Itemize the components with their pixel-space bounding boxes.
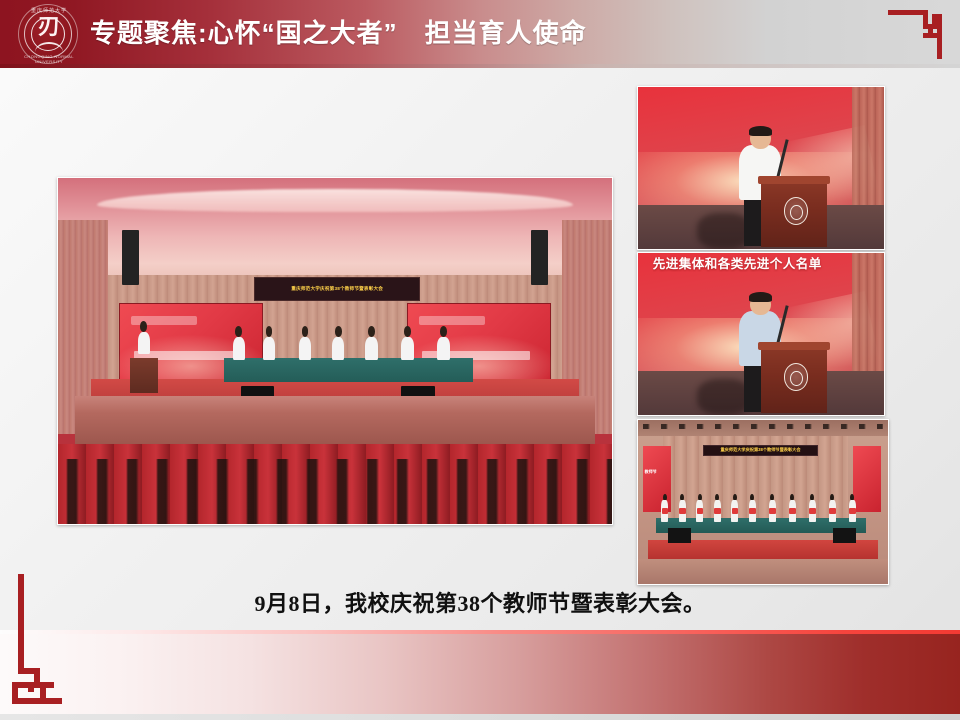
presidium-member-2 bbox=[263, 337, 275, 359]
awardee-6 bbox=[748, 494, 757, 522]
presidium-member-7 bbox=[437, 337, 449, 359]
stage-podium bbox=[130, 358, 158, 393]
lectern-1 bbox=[761, 176, 827, 247]
certificate-icon bbox=[749, 508, 755, 514]
certificate-icon bbox=[829, 508, 835, 514]
overlay-caption-text: 先进集体和各类先进个人名单 bbox=[653, 253, 879, 272]
right-photo-speaker-2[interactable]: 先进集体和各类先进个人名单 bbox=[637, 252, 885, 416]
certificate-icon bbox=[714, 508, 720, 514]
seal-center-glyph: 刃 bbox=[19, 16, 79, 38]
speaker-legs-2 bbox=[744, 363, 761, 412]
awardee-3 bbox=[696, 494, 705, 522]
award-screen-right bbox=[853, 446, 881, 512]
right-photo-speaker-1[interactable] bbox=[637, 86, 885, 250]
certificate-icon bbox=[732, 508, 738, 514]
screen-logo-right bbox=[419, 316, 484, 325]
footer-accent-line bbox=[0, 630, 960, 634]
key-pattern-corner-icon-bottom-left bbox=[12, 574, 84, 704]
stage-front-wall bbox=[75, 396, 596, 444]
certificate-icon bbox=[679, 508, 685, 514]
page-title: 专题聚焦:心怀“国之大者” 担当育人使命 bbox=[90, 13, 587, 53]
presidium-member-1 bbox=[233, 337, 245, 359]
awardee-10 bbox=[828, 494, 837, 522]
awardee-1 bbox=[661, 494, 670, 522]
stage-banner: 重庆师范大学庆祝第38个教师节暨表彰大会 bbox=[254, 277, 420, 301]
main-photo-auditorium[interactable]: 重庆师范大学庆祝第38个教师节暨表彰大会 bbox=[57, 177, 613, 525]
presidium-member-5 bbox=[365, 337, 377, 359]
person-head bbox=[404, 326, 411, 336]
awardee-4 bbox=[713, 494, 722, 522]
seal-arc-text-bottom: CHONGQING NORMAL UNIVERSITY bbox=[19, 54, 79, 64]
seal-arc-text-top: 重庆师范大学 bbox=[19, 7, 79, 14]
certificate-icon bbox=[849, 508, 855, 514]
hanging-speaker-right bbox=[531, 230, 549, 285]
university-emblem-on-lectern-1 bbox=[784, 197, 809, 225]
lectern-top-2 bbox=[758, 342, 830, 350]
key-pattern-corner-icon-top-right bbox=[888, 6, 946, 62]
slide-canvas: 重庆师范大学 刃 CHONGQING NORMAL UNIVERSITY 专题聚… bbox=[0, 0, 960, 720]
award-screen-left-text: 教师节 bbox=[645, 469, 657, 475]
lectern-2 bbox=[761, 342, 827, 413]
slide-caption: 9月8日，我校庆祝第38个教师节暨表彰大会。 bbox=[0, 586, 960, 618]
awardee-7 bbox=[768, 494, 777, 522]
university-emblem-on-lectern-2 bbox=[784, 363, 809, 391]
right-photo-award-ceremony[interactable]: 教师节 重庆师范大学庆祝第38个教师节暨表彰大会 bbox=[637, 419, 889, 585]
person-at-podium bbox=[138, 332, 150, 354]
presidium-member-6 bbox=[401, 337, 413, 359]
certificate-icon bbox=[789, 508, 795, 514]
certificate-icon bbox=[697, 508, 703, 514]
presidium-table bbox=[224, 358, 473, 382]
awardee-8 bbox=[788, 494, 797, 522]
header-underline bbox=[0, 64, 960, 68]
audience-seating bbox=[58, 444, 612, 524]
awardee-2 bbox=[678, 494, 687, 522]
speaker-hair-2 bbox=[749, 292, 772, 302]
award-foreground-floor bbox=[638, 559, 888, 584]
person-head bbox=[335, 326, 342, 336]
hanging-speaker-left bbox=[122, 230, 140, 285]
footer-shadow-line bbox=[0, 714, 960, 720]
certificate-icon bbox=[769, 508, 775, 514]
person-head bbox=[235, 326, 242, 336]
stage-banner-text: 重庆师范大学庆祝第38个教师节暨表彰大会 bbox=[291, 286, 383, 292]
person-head bbox=[368, 326, 375, 336]
awardee-9 bbox=[808, 494, 817, 522]
university-seal-logo: 重庆师范大学 刃 CHONGQING NORMAL UNIVERSITY bbox=[18, 4, 78, 64]
person-head bbox=[440, 326, 447, 336]
awardee-11 bbox=[848, 494, 857, 522]
person-head bbox=[140, 321, 147, 331]
speaker-hair-1 bbox=[749, 126, 772, 136]
presidium-member-3 bbox=[299, 337, 311, 359]
award-monitor-left bbox=[668, 528, 691, 543]
ceiling-panel bbox=[97, 189, 573, 213]
lectern-top-1 bbox=[758, 176, 830, 184]
award-stage-banner-text: 重庆师范大学庆祝第38个教师节暨表彰大会 bbox=[720, 447, 800, 453]
certificate-icon bbox=[809, 508, 815, 514]
slide-header: 重庆师范大学 刃 CHONGQING NORMAL UNIVERSITY 专题聚… bbox=[0, 0, 960, 68]
presidium-member-4 bbox=[332, 337, 344, 359]
award-ceiling bbox=[638, 420, 888, 436]
certificate-icon bbox=[662, 508, 668, 514]
awardee-5 bbox=[731, 494, 740, 522]
footer-band bbox=[0, 630, 960, 716]
award-stage-banner: 重庆师范大学庆祝第38个教师节暨表彰大会 bbox=[703, 445, 818, 456]
auditorium-ceiling bbox=[58, 178, 612, 285]
speaker-legs-1 bbox=[744, 197, 761, 246]
award-monitor-right bbox=[833, 528, 856, 543]
